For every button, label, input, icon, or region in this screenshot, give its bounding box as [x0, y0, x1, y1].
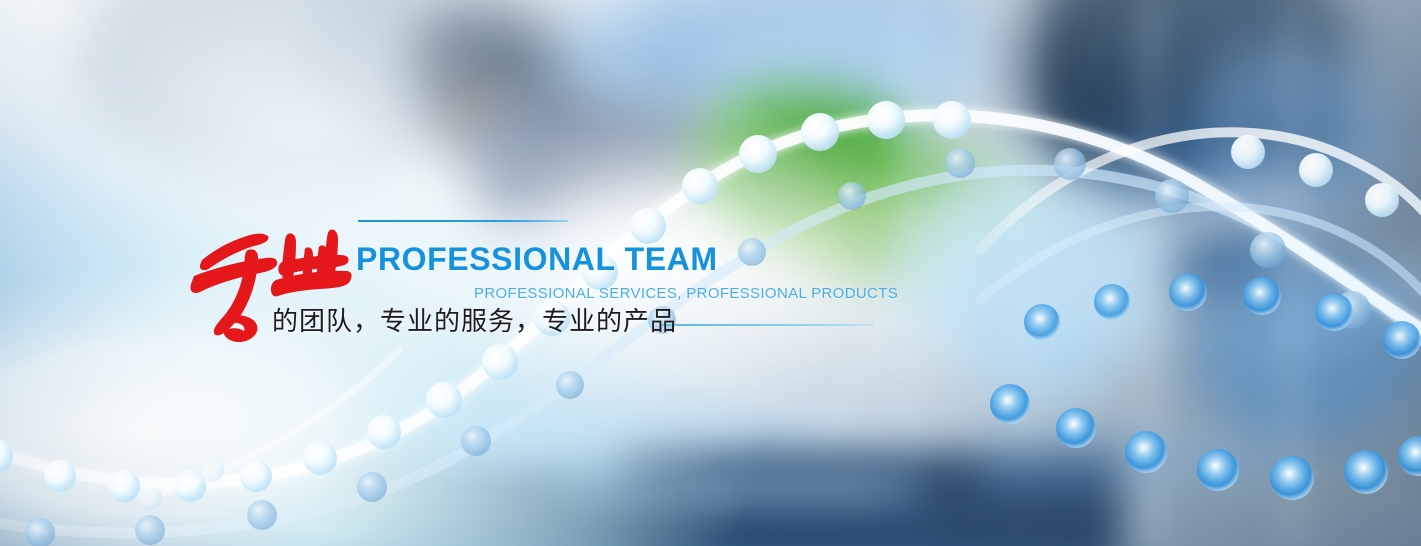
- page-tagline-chinese: 的团队，专业的服务，专业的产品: [272, 307, 677, 337]
- page-subtitle: PROFESSIONAL SERVICES, PROFESSIONAL PROD…: [474, 286, 898, 301]
- hero-banner: PROFESSIONAL TEAM PROFESSIONAL SERVICES,…: [0, 0, 1421, 546]
- decorative-rule-bottom: [662, 324, 874, 326]
- headline-block: PROFESSIONAL TEAM PROFESSIONAL SERVICES,…: [0, 0, 1421, 546]
- page-title: PROFESSIONAL TEAM: [356, 243, 718, 275]
- decorative-rule-top: [358, 220, 568, 222]
